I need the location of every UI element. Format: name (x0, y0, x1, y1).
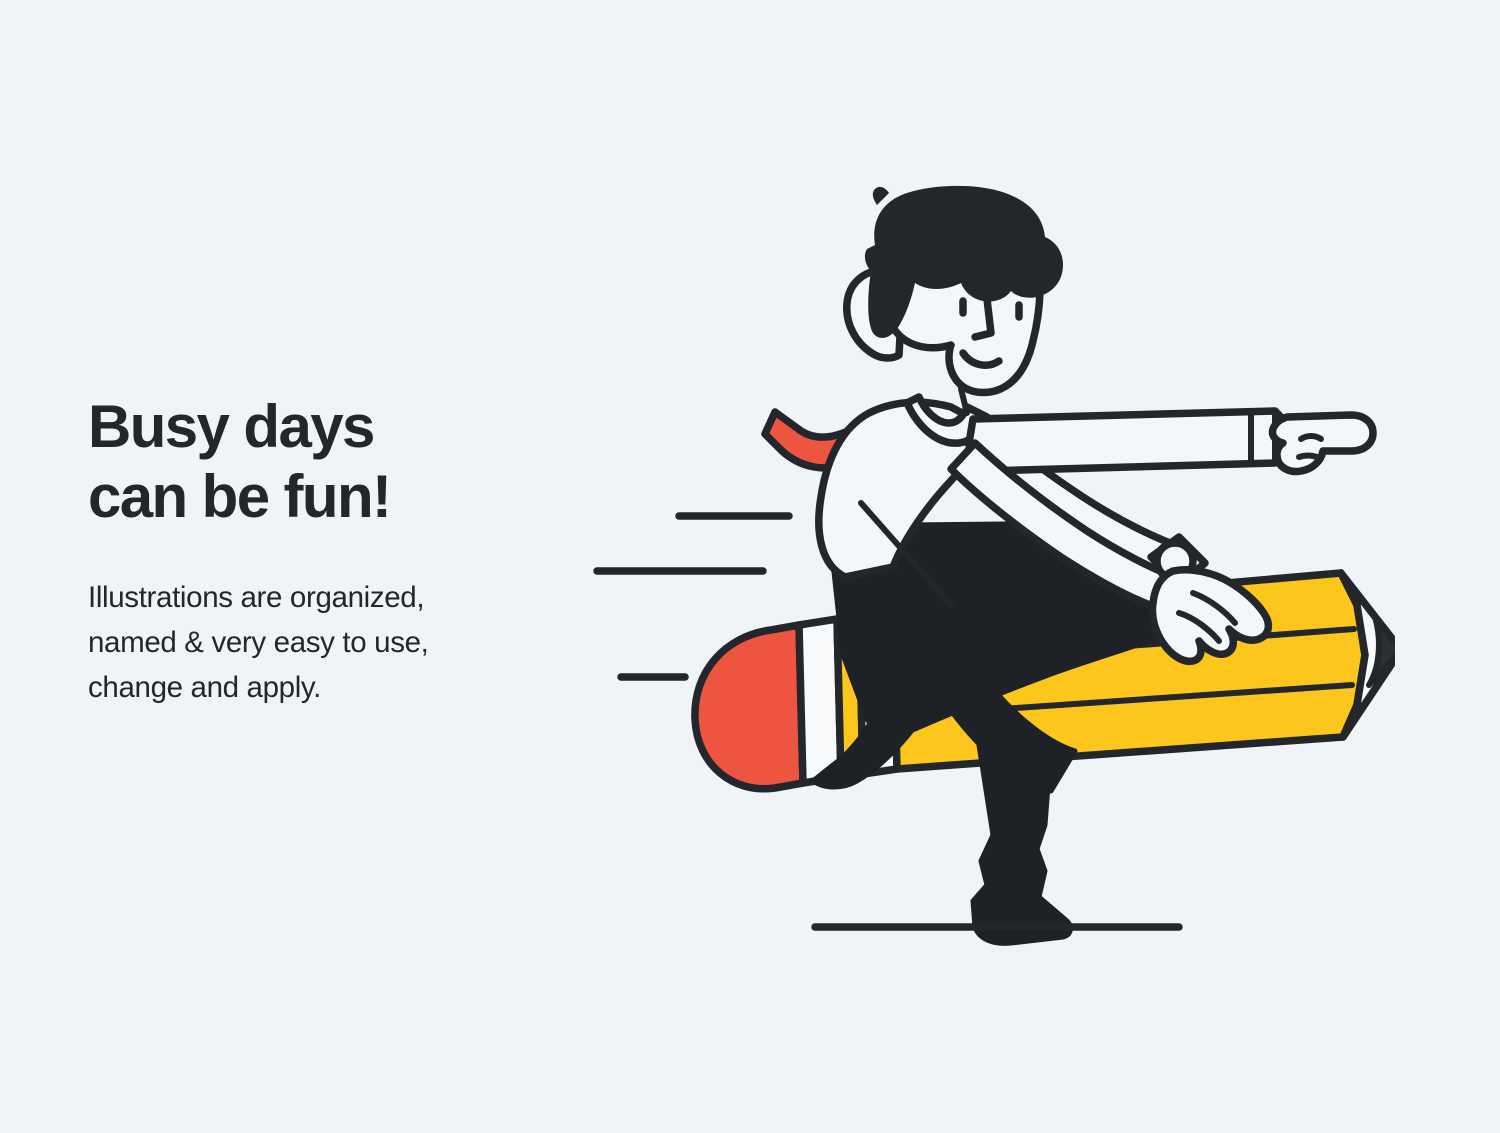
eyebrow-right (1009, 283, 1025, 285)
man-riding-pencil-rocket-illustration: .ink { stroke:#23272B; stroke-width:7.5;… (575, 185, 1395, 975)
pencil-eraser (695, 625, 803, 789)
page-canvas: Busy days can be fun! Illustrations are … (0, 0, 1500, 1133)
head-group (847, 186, 1063, 393)
knuckle-line (1299, 456, 1317, 458)
pointing-hand (1272, 415, 1373, 472)
eyebrow-left (957, 275, 977, 277)
pointing-arm (969, 411, 1289, 471)
hero-illustration: .ink { stroke:#23272B; stroke-width:7.5;… (575, 185, 1395, 975)
page-subtitle: Illustrations are organized, named & ver… (88, 532, 568, 710)
page-title: Busy days can be fun! (88, 392, 568, 532)
pointing-arm-group (969, 411, 1373, 472)
copy-block: Busy days can be fun! Illustrations are … (88, 392, 568, 711)
knuckle-line (1301, 436, 1321, 439)
